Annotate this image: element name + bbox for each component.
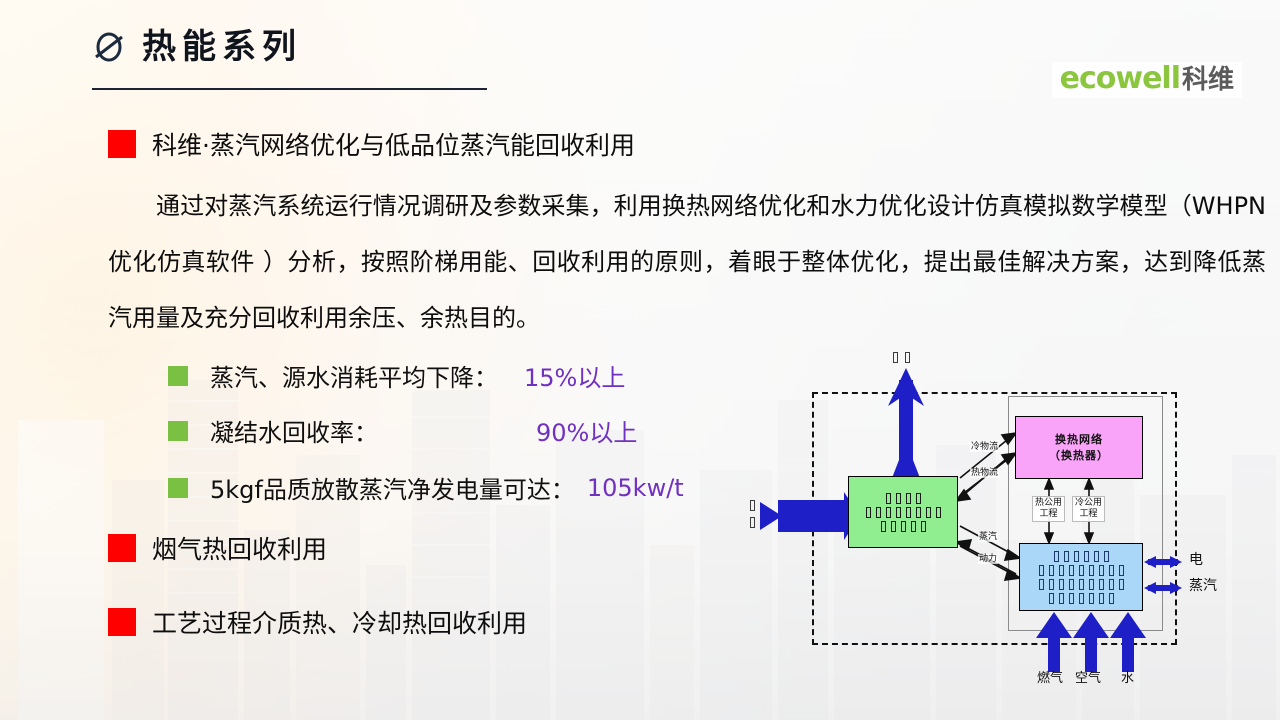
- label-hot-stream: 热物流: [970, 468, 999, 478]
- label-steam-stream: 蒸汽: [978, 532, 998, 542]
- blue-box-glyph-rows: [1020, 544, 1142, 610]
- green-square-bullet-icon: [168, 421, 188, 441]
- label-input-gas: 燃气: [1036, 672, 1064, 687]
- label-input-air: 空气: [1074, 672, 1102, 687]
- process-flow-diagram: 换热网络 （换热器）: [760, 350, 1275, 695]
- section-heading-text: 科维·蒸汽网络优化与低品位蒸汽能回收利用: [152, 126, 635, 162]
- metric-value: 15%以上: [524, 358, 625, 393]
- logo-latin-text: ecowell: [1060, 64, 1180, 94]
- metric-row-1: 蒸汽、源水消耗平均下降： 15%以上: [168, 358, 625, 393]
- sub-point-row-2: 工艺过程介质热、冷却热回收利用: [108, 604, 527, 640]
- heat-exchange-network-box: 换热网络 （换热器）: [1015, 416, 1143, 479]
- glyph-row: [1039, 579, 1124, 590]
- green-square-bullet-icon: [168, 478, 188, 498]
- label-cold-stream: 冷物流: [970, 442, 999, 452]
- hot-utility-line1: 热公用: [1035, 498, 1062, 509]
- cold-utility-line1: 冷公用: [1075, 498, 1102, 509]
- glyph-row: [1039, 565, 1124, 576]
- glyph-row: [866, 507, 941, 518]
- metric-row-2: 凝结水回收率： 90%以上: [168, 413, 637, 448]
- label-input-water: 水: [1120, 672, 1135, 687]
- label-cold-utility: 冷公用 工程: [1072, 496, 1105, 522]
- glyph-row: [1049, 593, 1114, 604]
- red-square-bullet-icon: [108, 130, 136, 158]
- label-hot-utility: 热公用 工程: [1032, 496, 1065, 522]
- glyph-row: [886, 493, 921, 504]
- metric-label: 凝结水回收率：: [210, 413, 378, 448]
- left-arrow-glyphs: [750, 500, 755, 528]
- sub-point-text: 烟气热回收利用: [152, 530, 327, 566]
- label-output-electricity: 电: [1188, 552, 1204, 568]
- sub-point-text: 工艺过程介质热、冷却热回收利用: [152, 604, 527, 640]
- top-arrow-glyphs: [893, 352, 910, 363]
- glyph-row: [881, 521, 926, 532]
- metric-value: 90%以上: [536, 413, 637, 448]
- sub-point-row-1: 烟气热回收利用: [108, 530, 327, 566]
- red-square-bullet-icon: [108, 534, 136, 562]
- metric-value: 105kw/t: [587, 474, 684, 502]
- body-paragraph: 通过对蒸汽系统运行情况调研及参数采集，利用换热网络优化和水力优化设计仿真模拟数学…: [108, 178, 1266, 346]
- page-title: 热能系列: [142, 30, 302, 64]
- hot-utility-line2: 工程: [1035, 509, 1062, 520]
- circle-slash-icon: [92, 30, 126, 64]
- label-power-stream: 动力: [978, 554, 998, 564]
- cold-utility-line2: 工程: [1075, 509, 1102, 520]
- red-square-bullet-icon: [108, 608, 136, 636]
- metric-label: 5kgf品质放散蒸汽净发电量可达：: [210, 470, 575, 505]
- green-box-glyph-rows: [849, 477, 957, 547]
- plant-process-box-green: [848, 476, 958, 548]
- label-output-steam: 蒸汽: [1188, 578, 1218, 594]
- ecowell-logo: ecowell 科维: [1052, 62, 1242, 98]
- diagram-arrow-layer: [760, 350, 1275, 695]
- glyph-row: [1054, 551, 1109, 562]
- logo-chinese-text: 科维: [1182, 67, 1234, 93]
- metric-row-3: 5kgf品质放散蒸汽净发电量可达： 105kw/t: [168, 470, 684, 505]
- slide-canvas: 热能系列 ecowell 科维 科维·蒸汽网络优化与低品位蒸汽能回收利用 通过对…: [0, 0, 1280, 720]
- metric-label: 蒸汽、源水消耗平均下降：: [210, 358, 498, 393]
- title-underline: [92, 88, 487, 90]
- page-title-group: 热能系列: [92, 30, 302, 64]
- hen-label-line2: （换热器）: [1049, 449, 1109, 463]
- hen-label-line1: 换热网络: [1055, 433, 1103, 447]
- utility-system-box-blue: [1019, 543, 1143, 611]
- section-heading-row: 科维·蒸汽网络优化与低品位蒸汽能回收利用: [108, 126, 635, 162]
- green-square-bullet-icon: [168, 366, 188, 386]
